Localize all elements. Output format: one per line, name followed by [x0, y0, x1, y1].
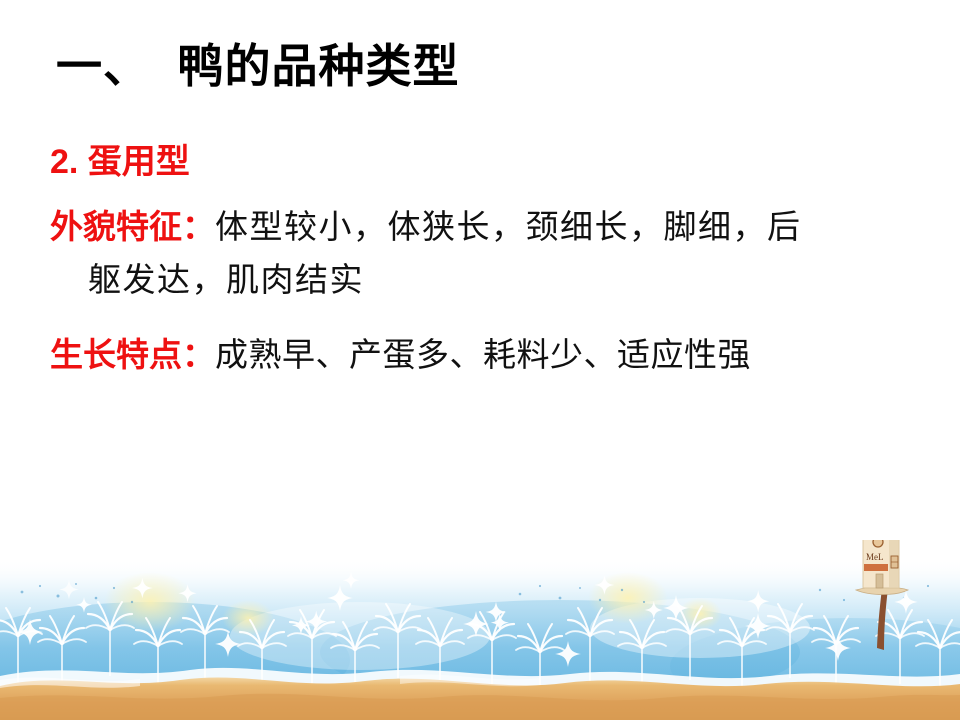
birdhouse-label: MeL: [866, 552, 884, 562]
palm-trees: [0, 602, 960, 698]
sand-dunes: [0, 674, 960, 720]
content-block: 2. 蛋用型 外貌特征：体型较小，体狭长，颈细长，脚细，后 躯发达，肌肉结实 生…: [50, 138, 912, 393]
speckles: [21, 583, 930, 603]
paragraph-appearance-line2: 躯发达，肌肉结实: [50, 255, 912, 308]
paragraph-appearance: 外貌特征：体型较小，体狭长，颈细长，脚细，后 躯发达，肌肉结实: [50, 200, 912, 308]
birdhouse-icon: MeL: [856, 540, 918, 650]
sparkle-stars: [17, 572, 851, 667]
paragraph-growth-line1: 成熟早、产蛋多、耗料少、适应性强: [215, 338, 751, 374]
paragraph-appearance-label: 外貌特征：: [50, 208, 215, 245]
sky-wash: [0, 558, 960, 720]
beach-border-decoration: MeL: [0, 540, 960, 720]
paragraph-growth: 生长特点：成熟早、产蛋多、耗料少、适应性强: [50, 328, 912, 383]
paragraph-growth-label: 生长特点：: [50, 336, 215, 373]
paragraph-appearance-line1: 体型较小，体狭长，颈细长，脚细，后: [215, 210, 802, 246]
shoreline-foam: [0, 668, 960, 692]
page-title: 一、 鸭的品种类型: [56, 38, 460, 94]
slide-canvas: 一、 鸭的品种类型 2. 蛋用型 外貌特征：体型较小，体狭长，颈细长，脚细，后 …: [0, 0, 960, 720]
sun-glow: [104, 572, 722, 636]
section-subheading: 2. 蛋用型: [50, 138, 912, 186]
